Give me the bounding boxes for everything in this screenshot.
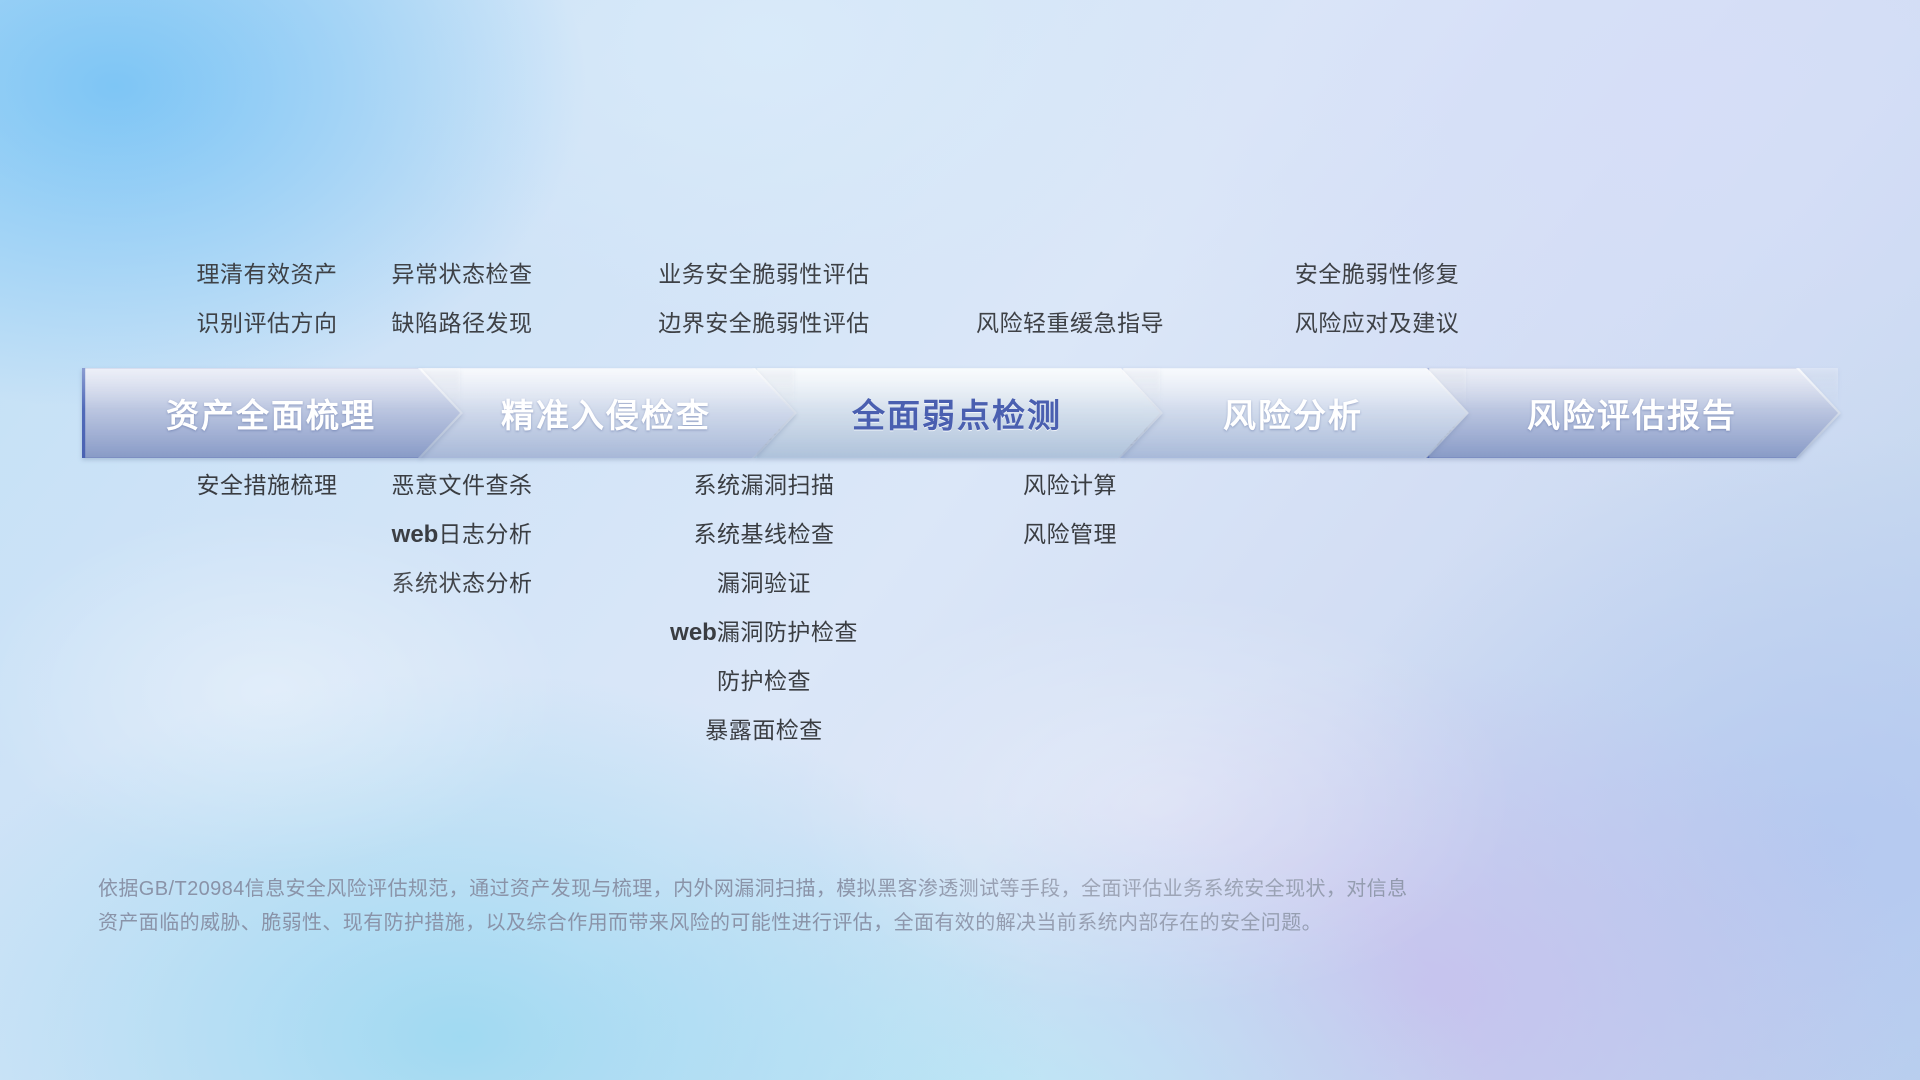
bottom-item: 风险计算 bbox=[810, 461, 1330, 510]
top-item: 风险应对及建议 bbox=[1117, 299, 1637, 348]
chevron-stage-intrusion-check[interactable]: 精准入侵检查 bbox=[418, 368, 794, 458]
chevron-stage-asset-inventory[interactable]: 资产全面梳理 bbox=[82, 368, 460, 458]
bottom-item: 漏洞验证 bbox=[504, 559, 1024, 608]
bottom-item-cjk: 暴露面检查 bbox=[705, 717, 823, 743]
chevron-stage-weakness-detection[interactable]: 全面弱点检测 bbox=[754, 368, 1160, 458]
bottom-item-cjk: 防护检查 bbox=[717, 668, 811, 694]
chevron-label-asset-inventory: 资产全面梳理 bbox=[166, 389, 376, 437]
chevron-label-intrusion-check: 精准入侵检查 bbox=[501, 389, 711, 437]
bottom-item: 防护检查 bbox=[504, 657, 1024, 706]
footer-description: 依据GB/T20984信息安全风险评估规范，通过资产发现与梳理，内外网漏洞扫描，… bbox=[98, 872, 1638, 940]
slide-canvas: 资产全面梳理精准入侵检查全面弱点检测风险分析风险评估报告 理清有效资产识别评估方… bbox=[0, 0, 1920, 1080]
bottom-item-latin: web bbox=[392, 521, 439, 548]
bottom-item-cjk: 风险计算 bbox=[1023, 472, 1117, 498]
bottom-item: 暴露面检查 bbox=[504, 706, 1024, 755]
footer-line-1: 依据GB/T20984信息安全风险评估规范，通过资产发现与梳理，内外网漏洞扫描，… bbox=[98, 872, 1638, 906]
bottom-item: 风险管理 bbox=[810, 510, 1330, 559]
footer-line-2: 资产面临的威胁、脆弱性、现有防护措施，以及综合作用而带来风险的可能性进行评估，全… bbox=[98, 906, 1638, 940]
top-item: 业务安全脆弱性评估 bbox=[504, 250, 1024, 299]
process-chevron-band: 资产全面梳理精准入侵检查全面弱点检测风险分析风险评估报告 bbox=[82, 368, 1838, 458]
bottom-item-cjk: 风险管理 bbox=[1023, 521, 1117, 547]
chevron-label-risk-report: 风险评估报告 bbox=[1527, 389, 1737, 437]
chevron-label-risk-analysis: 风险分析 bbox=[1223, 389, 1363, 437]
top-item: 安全脆弱性修复 bbox=[1117, 250, 1637, 299]
chevron-stage-risk-report[interactable]: 风险评估报告 bbox=[1426, 368, 1838, 458]
bottom-item-latin: web bbox=[670, 619, 717, 646]
chevron-label-weakness-detection: 全面弱点检测 bbox=[852, 389, 1062, 437]
bottom-item-cjk: 漏洞防护检查 bbox=[717, 619, 858, 645]
chevron-stage-risk-analysis[interactable]: 风险分析 bbox=[1120, 368, 1466, 458]
bottom-item: web漏洞防护检查 bbox=[504, 608, 1024, 657]
bottom-item-cjk: 漏洞验证 bbox=[717, 570, 811, 596]
top-list-risk-report: 安全脆弱性修复风险应对及建议 bbox=[1117, 250, 1637, 348]
